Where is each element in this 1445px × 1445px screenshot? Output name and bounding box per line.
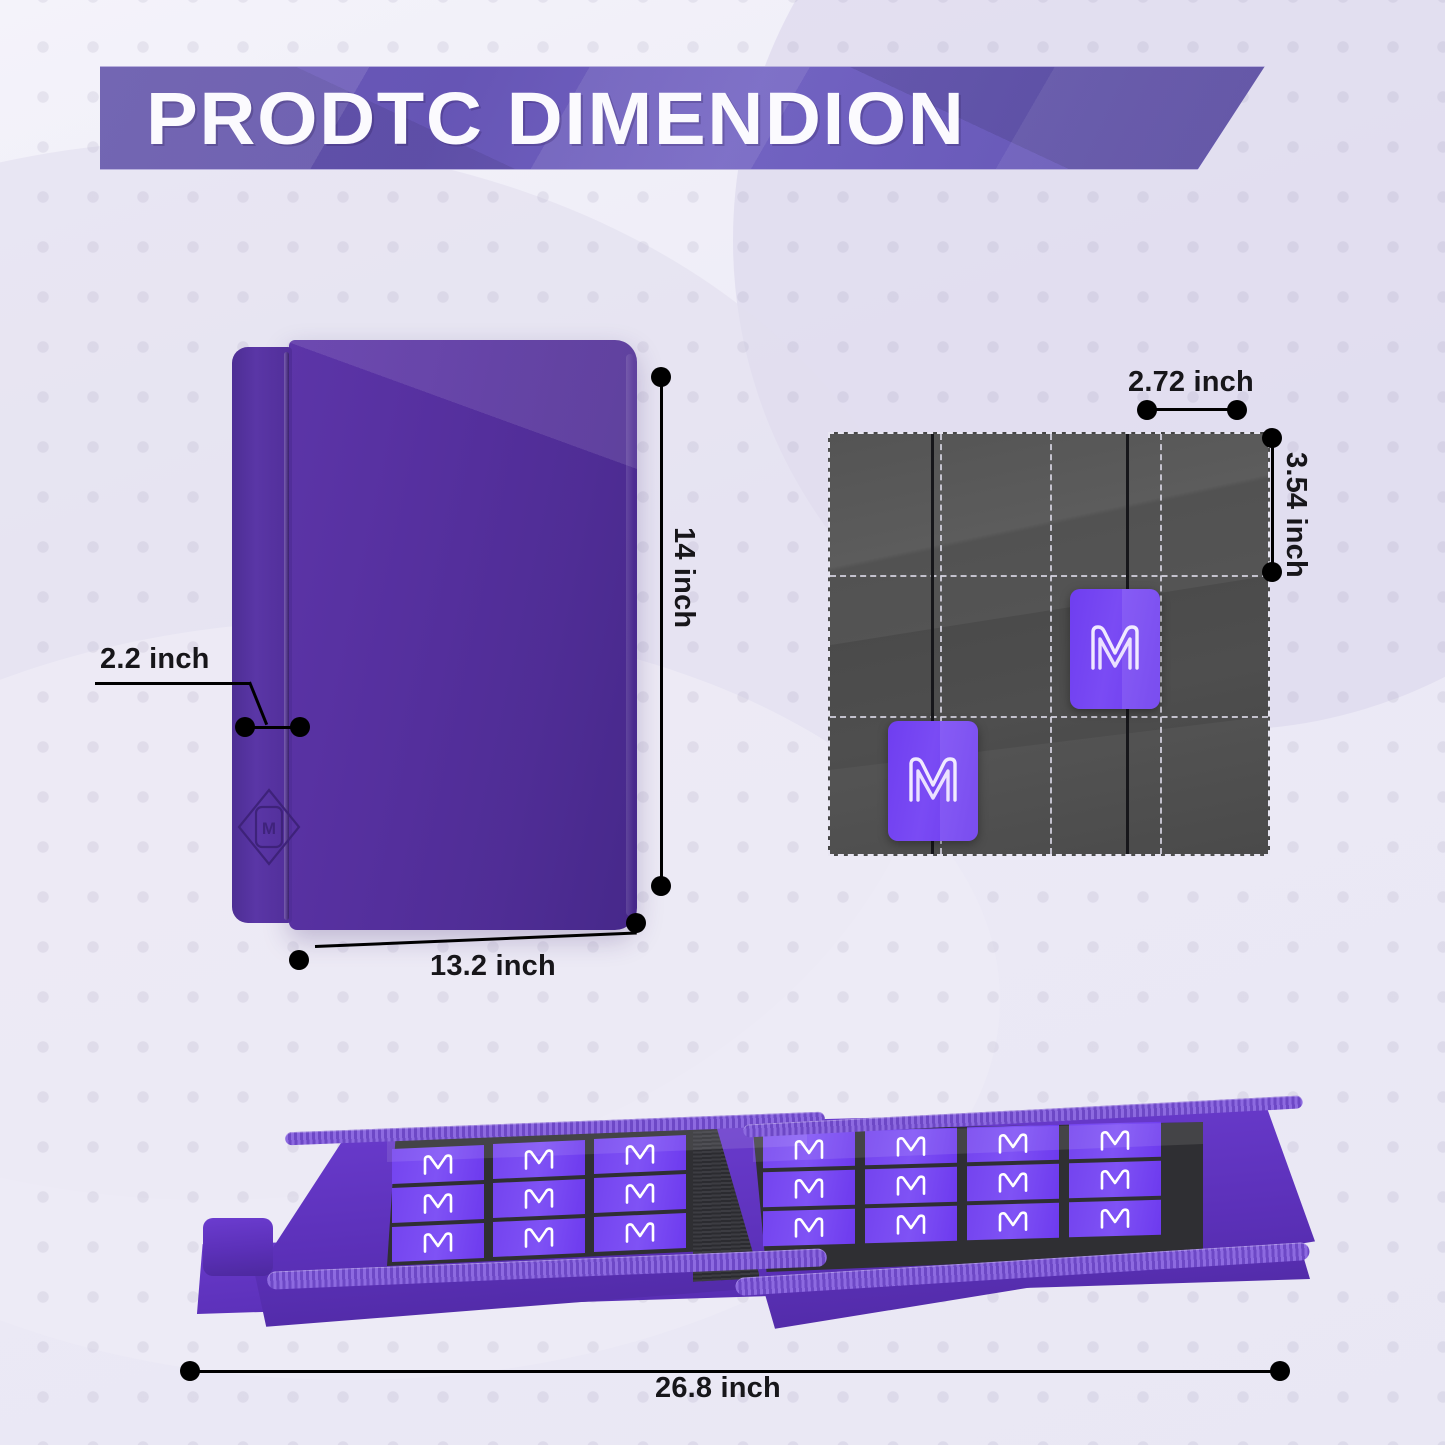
card-m-logo-icon bbox=[421, 1192, 455, 1215]
width-dimension-label: 13.2 inch bbox=[430, 950, 556, 983]
open-binder-card bbox=[594, 1135, 686, 1174]
binder-logo-letter: M bbox=[262, 819, 276, 838]
open-binder-pull-tab bbox=[203, 1218, 273, 1276]
open-binder-card bbox=[763, 1170, 855, 1208]
open-binder-card bbox=[967, 1203, 1059, 1241]
pocket-grid-panel bbox=[828, 432, 1270, 856]
thickness-dimension-dot-left bbox=[235, 717, 255, 737]
title-banner: PRODTC DIMENDION bbox=[100, 66, 1265, 170]
card-m-logo-icon bbox=[996, 1132, 1030, 1155]
open-binder-card bbox=[594, 1174, 686, 1213]
open-binder-card bbox=[1069, 1161, 1161, 1199]
open-binder-card bbox=[865, 1128, 957, 1166]
pocket-width-dot-right bbox=[1227, 400, 1247, 420]
binder-edge-highlight bbox=[626, 354, 634, 916]
thickness-dimension-dot-right bbox=[290, 717, 310, 737]
card-m-logo-icon bbox=[623, 1182, 657, 1205]
open-binder-card bbox=[1069, 1122, 1161, 1160]
pocket-card bbox=[1070, 589, 1160, 709]
card-m-logo-icon bbox=[421, 1153, 455, 1176]
pocket-height-dot-top bbox=[1262, 428, 1282, 448]
open-binder-card bbox=[967, 1164, 1059, 1202]
card-m-logo-icon bbox=[792, 1138, 826, 1161]
open-binder-card bbox=[493, 1179, 585, 1218]
panel-grid-line-v2 bbox=[1050, 434, 1052, 854]
card-m-logo-icon bbox=[792, 1177, 826, 1200]
pocket-width-label: 2.72 inch bbox=[1128, 366, 1254, 399]
open-binder-card bbox=[493, 1140, 585, 1179]
card-m-logo-icon bbox=[421, 1231, 455, 1254]
height-dimension-dot-bottom bbox=[651, 876, 671, 896]
open-width-dot-left bbox=[180, 1361, 200, 1381]
card-m-logo-icon bbox=[623, 1221, 657, 1244]
thickness-label-underline bbox=[95, 682, 250, 685]
card-m-logo-icon bbox=[1098, 1168, 1132, 1191]
open-binder-card bbox=[392, 1184, 484, 1223]
binder-front-cover bbox=[289, 340, 637, 930]
open-binder-card bbox=[865, 1167, 957, 1205]
card-m-logo-icon bbox=[522, 1187, 556, 1210]
pocket-width-dot-left bbox=[1137, 400, 1157, 420]
page-title: PRODTC DIMENDION bbox=[146, 76, 965, 161]
open-binder-card bbox=[763, 1209, 855, 1247]
pocket-card bbox=[888, 721, 978, 841]
card-m-logo-icon bbox=[522, 1148, 556, 1171]
card-m-logo-icon bbox=[1098, 1207, 1132, 1230]
binder-cover-logo: M bbox=[236, 787, 302, 867]
open-width-dot-right bbox=[1270, 1361, 1290, 1381]
card-m-logo-icon bbox=[894, 1135, 928, 1158]
height-dimension-dot-top bbox=[651, 367, 671, 387]
open-binder-card bbox=[967, 1125, 1059, 1163]
panel-grid-line-h1 bbox=[830, 575, 1268, 577]
thickness-dimension-label: 2.2 inch bbox=[100, 643, 210, 676]
pocket-card-gloss bbox=[940, 721, 978, 841]
open-width-dimension-label: 26.8 inch bbox=[655, 1372, 781, 1405]
open-binder-card bbox=[865, 1206, 957, 1244]
card-m-logo-icon bbox=[792, 1216, 826, 1239]
card-m-logo-icon bbox=[1098, 1129, 1132, 1152]
height-dimension-line bbox=[660, 385, 663, 885]
card-m-logo-icon bbox=[894, 1174, 928, 1197]
open-binder-card bbox=[493, 1218, 585, 1257]
pocket-card-gloss bbox=[1122, 589, 1160, 709]
width-dimension-dot-right bbox=[626, 913, 646, 933]
pocket-width-line bbox=[1146, 408, 1236, 411]
open-binder-card bbox=[392, 1223, 484, 1262]
open-binder-card bbox=[763, 1131, 855, 1169]
card-m-logo-icon bbox=[522, 1226, 556, 1249]
panel-grid-line-h2 bbox=[830, 716, 1268, 718]
pocket-height-line bbox=[1271, 437, 1274, 572]
height-dimension-label: 14 inch bbox=[667, 527, 700, 628]
open-binder-card bbox=[1069, 1200, 1161, 1238]
card-m-logo-icon bbox=[996, 1210, 1030, 1233]
card-m-logo-icon bbox=[996, 1171, 1030, 1194]
open-binder-card bbox=[392, 1145, 484, 1184]
panel-grid-line-v3 bbox=[1160, 434, 1162, 854]
open-binder-card bbox=[594, 1213, 686, 1252]
width-dimension-dot-left bbox=[289, 950, 309, 970]
card-m-logo-icon bbox=[894, 1213, 928, 1236]
panel-sheen-upper bbox=[828, 432, 1270, 647]
open-binder-illustration bbox=[175, 1100, 1315, 1330]
card-m-logo-icon bbox=[623, 1143, 657, 1166]
pocket-height-label: 3.54 inch bbox=[1279, 452, 1312, 578]
